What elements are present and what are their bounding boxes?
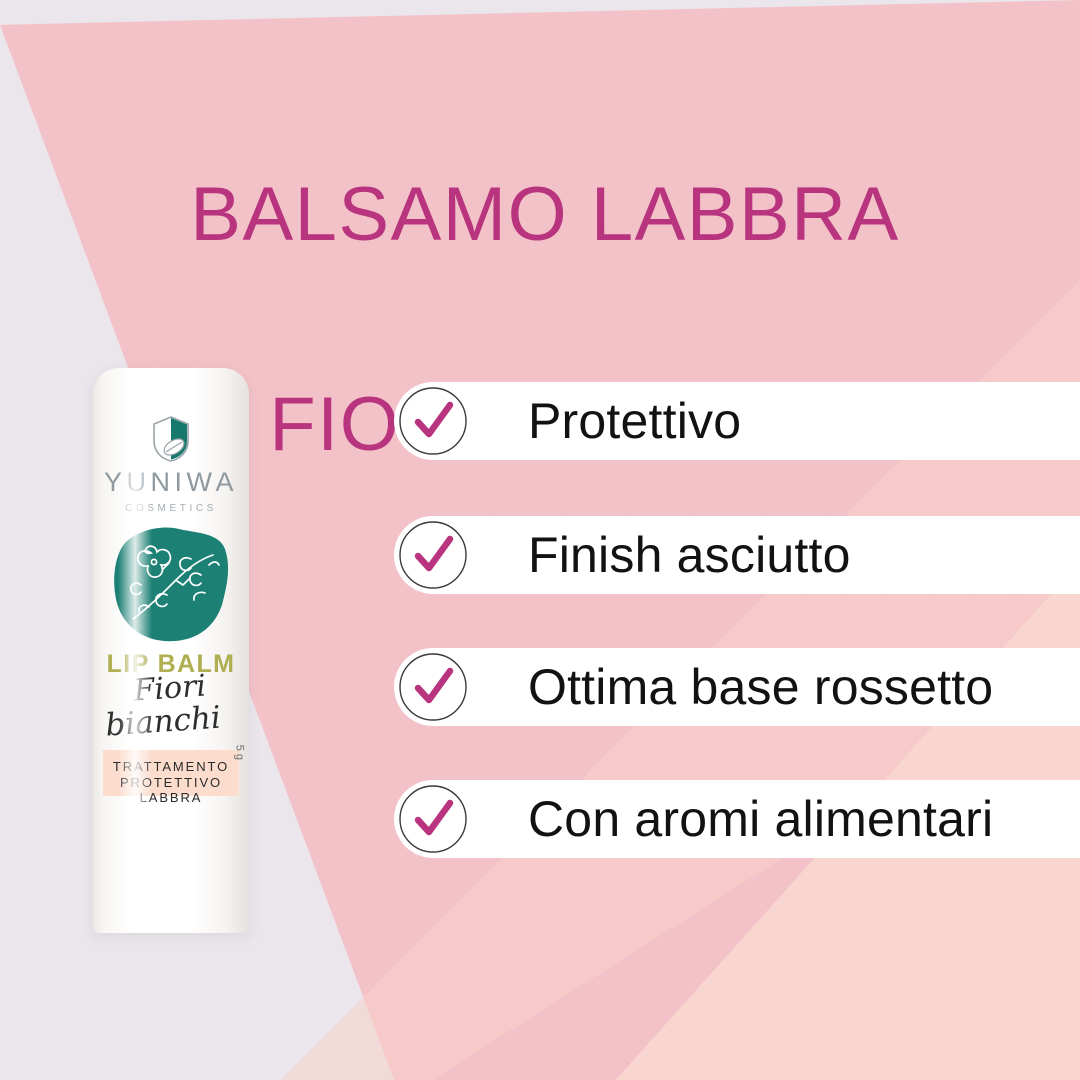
check-circle-icon	[398, 386, 468, 456]
product-claim-line-2: PROTETTIVO LABBRA	[103, 775, 239, 805]
page-title: BALSAMO LABBRA FIORI BIANCHI	[150, 58, 940, 582]
benefit-item: Ottima base rossetto	[432, 648, 1080, 726]
brand-tagline: COSMETICS	[93, 503, 249, 514]
benefit-item: Finish asciutto	[432, 516, 1080, 594]
check-circle-icon	[398, 520, 468, 590]
product-claim-band: TRATTAMENTO PROTETTIVO LABBRA	[103, 750, 239, 796]
benefit-item: Protettivo	[432, 382, 1080, 460]
benefit-label: Ottima base rossetto	[528, 658, 993, 716]
white-flower-botanical-illustration	[105, 523, 237, 652]
product-claim-line-1: TRATTAMENTO	[103, 759, 239, 774]
page-title-line-1: BALSAMO LABBRA	[150, 163, 940, 268]
promo-graphic: BALSAMO LABBRA FIORI BIANCHI Protettivo …	[0, 0, 1080, 1080]
variant-name: Fiori bianchi	[93, 669, 249, 743]
benefit-label: Protettivo	[528, 392, 741, 450]
variant-name-line-2: bianchi	[93, 701, 249, 744]
leaf-shield-logo-icon	[148, 414, 194, 469]
check-circle-icon	[398, 784, 468, 854]
benefit-item: Con aromi alimentari	[432, 780, 1080, 858]
benefit-label: Finish asciutto	[528, 526, 851, 584]
check-circle-icon	[398, 652, 468, 722]
product-lip-balm-tube: YUNIWA COSMETICS	[93, 368, 249, 933]
benefit-label: Con aromi alimentari	[528, 790, 993, 848]
brand-name: YUNIWA	[93, 467, 249, 498]
net-weight-label: 5 g	[233, 745, 245, 760]
